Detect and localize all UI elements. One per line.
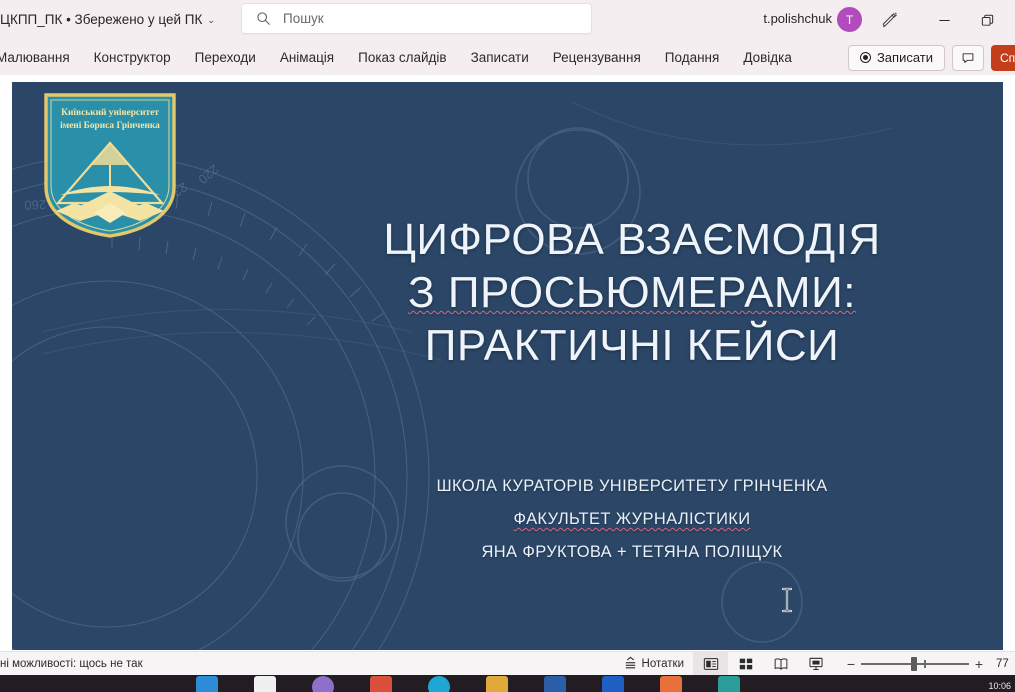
notes-icon: [623, 656, 638, 671]
record-dot-icon: [860, 52, 871, 63]
document-title-button[interactable]: ЦКПП_ПК • Збережено у цей ПК ⌄: [0, 10, 221, 29]
zoom-slider[interactable]: [861, 654, 969, 674]
tab-design[interactable]: Конструктор: [82, 46, 183, 70]
slide-title-line-2: З ПРОСЬЮМЕРАМИ:: [312, 267, 952, 320]
app-cyan-icon[interactable]: [428, 676, 450, 692]
share-button-label: Спільний доступ: [1000, 51, 1015, 65]
zoom-controls: − + 77: [833, 654, 1015, 674]
slide-title-line-1: ЦИФРОВА ВЗАЄМОДІЯ: [312, 214, 952, 267]
normal-view-icon: [703, 656, 719, 672]
app-purple-icon[interactable]: [312, 676, 334, 692]
slide-show-icon: [808, 656, 824, 672]
tab-drawing[interactable]: Малювання: [0, 46, 82, 70]
slide-canvas[interactable]: 260 250 240 230 220: [12, 82, 1003, 650]
tab-slideshow[interactable]: Показ слайдів: [346, 46, 458, 70]
search-icon: [256, 11, 271, 26]
slide-show-view-button[interactable]: [798, 652, 833, 676]
zoom-slider-thumb[interactable]: [911, 657, 917, 671]
tab-view[interactable]: Подання: [653, 46, 732, 70]
search-placeholder: Пошук: [283, 11, 324, 26]
bearing-tick-220: 220: [195, 162, 221, 187]
app-red-icon[interactable]: [370, 676, 392, 692]
chevron-down-icon[interactable]: ⌄: [207, 15, 215, 26]
file-explorer-icon[interactable]: [254, 676, 276, 692]
zoom-out-button[interactable]: −: [841, 656, 861, 672]
text-cursor-icon: [780, 587, 794, 613]
user-name-label: t.polishchuk: [763, 11, 832, 26]
record-button[interactable]: Записати: [848, 45, 945, 71]
zoom-slider-midpoint: [924, 660, 926, 668]
app-teal-icon[interactable]: [718, 676, 740, 692]
slide-subtitle-line-2: ФАКУЛЬТЕТ ЖУРНАЛІСТИКИ: [312, 503, 952, 536]
restore-icon: [980, 13, 995, 28]
tab-help[interactable]: Довідка: [731, 46, 804, 70]
tab-record[interactable]: Записати: [459, 46, 541, 70]
powerpoint-window: ЦКПП_ПК • Збережено у цей ПК ⌄ Пошук t.p…: [0, 0, 1015, 692]
slide-subtitle-textbox[interactable]: ШКОЛА КУРАТОРІВ УНІВЕРСИТЕТУ ГРІНЧЕНКА Ф…: [312, 470, 952, 569]
status-bar-right: Нотатки: [614, 652, 1015, 676]
slide-workspace: 260 250 240 230 220: [0, 75, 1015, 651]
title-bar: ЦКПП_ПК • Збережено у цей ПК ⌄ Пошук t.p…: [0, 0, 1015, 40]
university-logo: Київський університет імені Бориса Грінч…: [40, 91, 180, 239]
reading-view-icon: [773, 656, 789, 672]
comment-icon: [961, 51, 975, 65]
folder-icon[interactable]: [486, 676, 508, 692]
windows-taskbar: 10:06: [0, 675, 1015, 692]
tab-animations[interactable]: Анімація: [268, 46, 346, 70]
slide-sorter-view-button[interactable]: [728, 652, 763, 676]
record-button-label: Записати: [877, 50, 933, 65]
app-blue-icon[interactable]: [544, 676, 566, 692]
restore-button[interactable]: [969, 6, 1005, 34]
share-button[interactable]: Спільний доступ: [991, 45, 1015, 71]
comments-button[interactable]: [952, 45, 984, 71]
slide-subtitle-line-1: ШКОЛА КУРАТОРІВ УНІВЕРСИТЕТУ ГРІНЧЕНКА: [312, 470, 952, 503]
app-indigo-icon[interactable]: [602, 676, 624, 692]
tab-review[interactable]: Рецензування: [541, 46, 653, 70]
minimize-icon: [937, 13, 952, 28]
avatar[interactable]: T: [836, 6, 863, 33]
zoom-in-button[interactable]: +: [969, 656, 989, 672]
document-title-label: ЦКПП_ПК • Збережено у цей ПК: [0, 12, 202, 27]
notes-button[interactable]: Нотатки: [614, 652, 693, 676]
status-bar: ьні можливості: щось не так Нотатки: [0, 651, 1015, 675]
search-input[interactable]: Пошук: [241, 3, 592, 34]
notes-button-label: Нотатки: [642, 658, 684, 670]
ribbon-right-actions: Записати Спільний доступ: [848, 40, 1015, 75]
ribbon-tabs: Малювання Конструктор Переходи Анімація …: [0, 40, 804, 75]
slide-subtitle-line-3: ЯНА ФРУКТОВА + ТЕТЯНА ПОЛІЩУК: [312, 536, 952, 569]
accessibility-status[interactable]: ьні можливості: щось не так: [0, 658, 143, 670]
windows-start-icon[interactable]: [196, 676, 218, 692]
normal-view-button[interactable]: [693, 652, 728, 676]
taskbar-clock[interactable]: 10:06: [988, 680, 1011, 692]
logo-text-line1: Київський університет: [61, 107, 159, 118]
slide-sorter-icon: [738, 656, 754, 672]
app-orange-icon[interactable]: [660, 676, 682, 692]
reading-view-button[interactable]: [763, 652, 798, 676]
taskbar-icons: [196, 675, 740, 692]
pen-icon: [880, 11, 899, 30]
tab-transitions[interactable]: Переходи: [183, 46, 268, 70]
minimize-button[interactable]: [926, 6, 962, 34]
slide-title-textbox[interactable]: ЦИФРОВА ВЗАЄМОДІЯ З ПРОСЬЮМЕРАМИ: ПРАКТИ…: [312, 214, 952, 372]
zoom-level-label[interactable]: 77: [989, 658, 1015, 670]
pen-button[interactable]: [871, 6, 907, 34]
logo-text-line2: імені Бориса Грінченка: [60, 120, 160, 131]
ribbon-tab-bar: Малювання Конструктор Переходи Анімація …: [0, 40, 1015, 75]
slide-title-line-3: ПРАКТИЧНІ КЕЙСИ: [312, 320, 952, 373]
